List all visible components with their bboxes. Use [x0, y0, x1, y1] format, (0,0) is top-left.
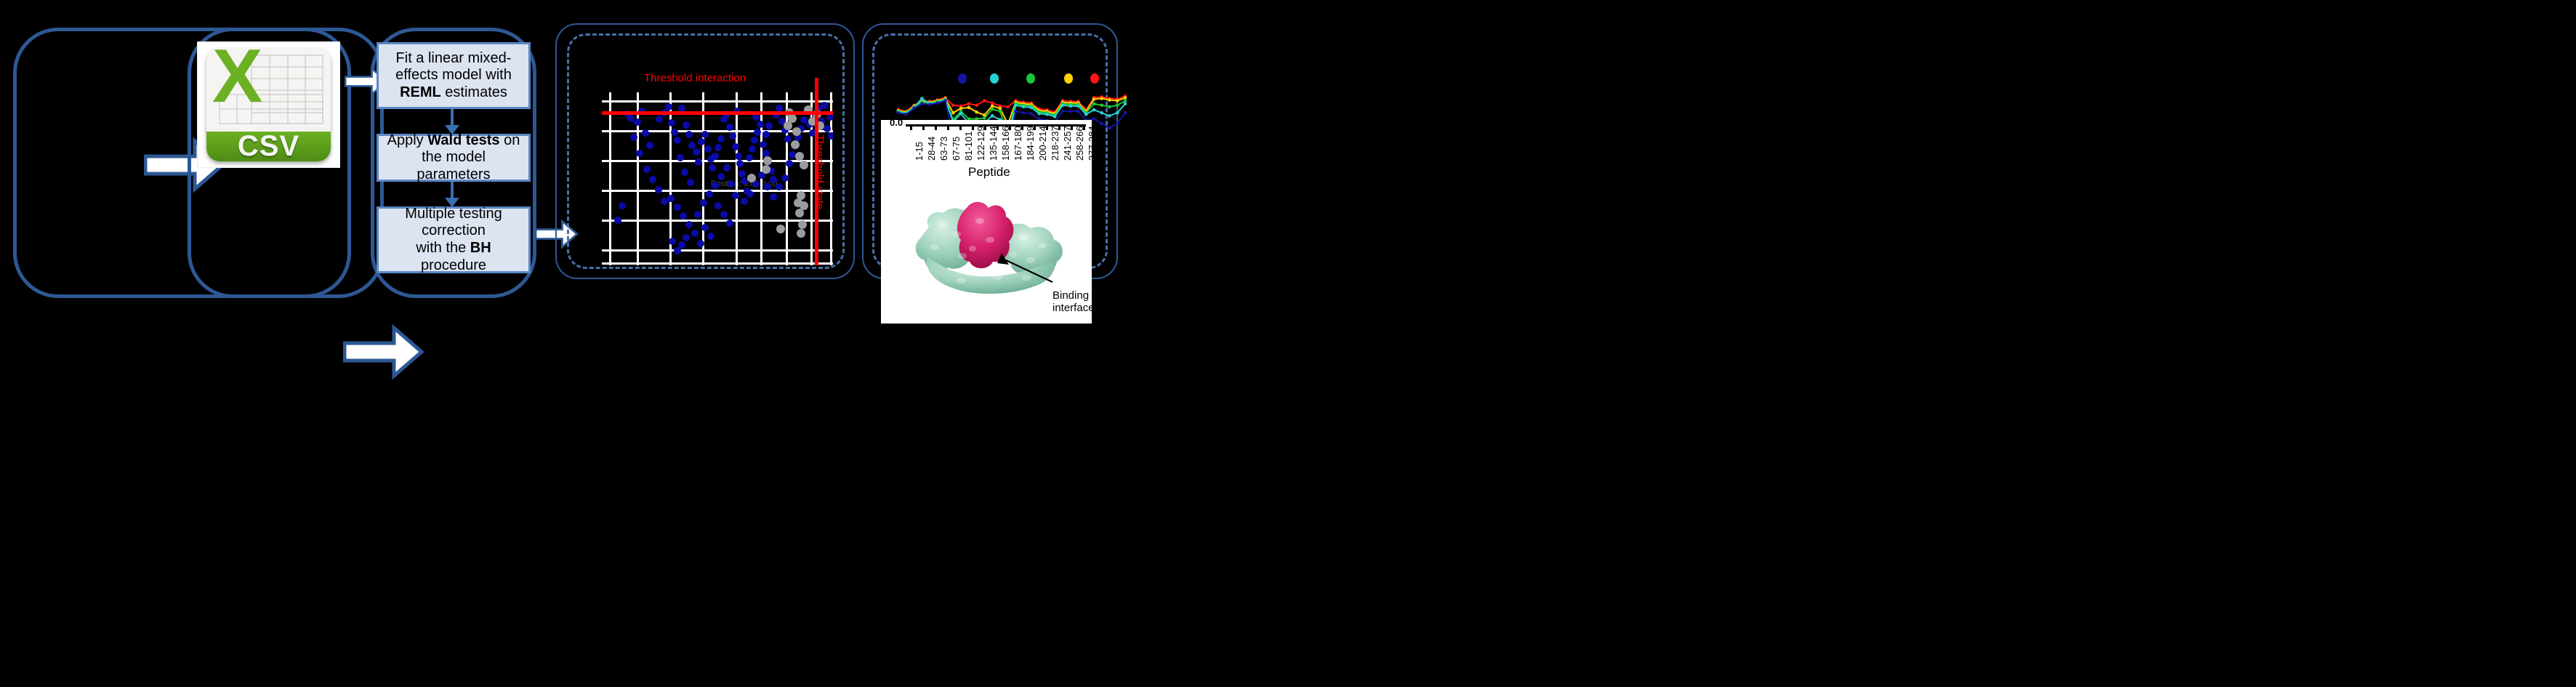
series-point: [991, 101, 994, 105]
step2-pre: Apply: [387, 132, 428, 148]
series-point: [1006, 105, 1010, 109]
arrow-stage1-to-csv: [343, 324, 424, 380]
threshold-interaction-line: [602, 111, 833, 115]
volcano-scatter-points: [602, 92, 833, 265]
series-point: [1108, 114, 1111, 118]
series-point: [1124, 99, 1127, 103]
series-point: [1124, 96, 1127, 100]
series-point: [1030, 112, 1034, 116]
annotation-line-2: interface: [1052, 302, 1092, 314]
series-point: [1022, 111, 1026, 115]
legend-dot-series-5: [1090, 73, 1099, 84]
x-axis-tick: [947, 125, 949, 130]
series-point: [1092, 108, 1096, 112]
x-axis-tick-label: 67-75: [951, 137, 962, 161]
series-point: [959, 112, 963, 116]
x-axis-tick-label: 200-214: [1037, 126, 1048, 161]
x-axis-tick: [935, 125, 937, 130]
series-point: [1076, 105, 1080, 108]
x-axis-tick: [959, 125, 962, 130]
series-point: [1084, 113, 1088, 116]
series-point: [920, 102, 924, 105]
series-point: [983, 99, 986, 103]
series-point: [951, 111, 955, 115]
x-axis-tick-label: 258-266: [1074, 126, 1085, 161]
series-point: [1092, 102, 1096, 105]
step1-reml: REML: [400, 84, 441, 100]
series-point: [991, 114, 994, 118]
series-point: [897, 111, 901, 115]
x-axis-tick-label: 122-129: [975, 126, 986, 161]
series-point: [1092, 117, 1096, 121]
csv-format-band: CSV: [206, 132, 331, 161]
x-axis-tick-label: 158-166: [1000, 126, 1011, 161]
series-point: [1100, 121, 1103, 125]
x-axis-tick-label: 218-237: [1050, 126, 1060, 161]
series-point: [1068, 105, 1072, 108]
series-point: [1076, 110, 1080, 113]
step-fit-model-box[interactable]: Fit a linear mixed- effects model with R…: [377, 42, 531, 109]
step1-line2: effects model with: [395, 67, 512, 83]
x-axis-tick-label: 277-284: [1087, 126, 1092, 161]
series-point: [1022, 105, 1026, 109]
series-point: [1116, 104, 1119, 108]
step-wald-tests-box[interactable]: Apply Wald tests on the model parameters: [377, 134, 531, 182]
series-point: [1061, 104, 1065, 108]
legend-dot-series-3: [1026, 73, 1035, 84]
series-point: [935, 101, 939, 105]
x-axis-caption: Peptide: [968, 165, 1010, 180]
series-point: [1116, 99, 1119, 103]
series-point: [1045, 113, 1049, 116]
series-point: [1068, 110, 1072, 113]
peptide-results-card: 0.0 1-1528-4463-7367-7581-101122-129135-…: [881, 120, 1092, 324]
step3-line2: correction: [422, 222, 486, 238]
series-point: [928, 103, 932, 106]
series-point: [999, 110, 1002, 113]
step3-line1: Multiple testing: [405, 206, 502, 222]
csv-file-icon: X CSV: [198, 42, 339, 167]
step3-pre: with the: [416, 240, 470, 256]
step3-post: procedure: [421, 257, 486, 273]
series-point: [975, 111, 978, 114]
step-multiple-testing-box[interactable]: Multiple testing correction with the BH …: [377, 206, 531, 273]
series-point: [1053, 115, 1057, 118]
series-point: [951, 104, 955, 108]
pipeline-figure: X CSV Fit a linear mixed- effects model …: [0, 0, 2576, 687]
series-point: [943, 99, 947, 103]
x-axis-tick-label: 1-15: [914, 142, 925, 161]
series-point: [991, 108, 994, 111]
series-point: [1124, 111, 1127, 115]
threshold-state-label: Threshold state: [813, 134, 826, 209]
x-axis-tick-label: 184-199: [1025, 126, 1036, 161]
series-point: [1014, 110, 1018, 113]
excel-x-glyph: X: [212, 48, 265, 87]
series-point: [1037, 112, 1041, 116]
series-point: [967, 102, 971, 105]
x-axis-tick: [922, 125, 925, 130]
csv-label: CSV: [238, 130, 299, 161]
volcano-plot-area: Position: 0.00 0.00: [602, 92, 833, 265]
series-point: [1030, 106, 1034, 110]
series-point: [959, 107, 963, 111]
series-point: [967, 106, 971, 110]
legend-dot-series-4: [1064, 73, 1073, 84]
series-point: [1116, 111, 1119, 115]
step1-line1: Fit a linear mixed-: [396, 50, 512, 66]
x-axis-tick-label: 28-44: [926, 137, 937, 161]
x-axis-tick-label: 63-73: [938, 137, 949, 161]
y-axis-tick-0: 0.0: [890, 120, 903, 128]
annotation-line-1: Binding: [1052, 289, 1092, 302]
x-axis-tick-label: 135-144: [988, 126, 999, 161]
series-point: [991, 105, 994, 108]
legend-dot-series-1: [958, 73, 967, 84]
series-point: [1100, 97, 1103, 100]
series-point: [920, 97, 924, 100]
spreadsheet-grid: X: [206, 48, 331, 132]
series-point: [912, 107, 916, 111]
x-axis-tick-label: 167-180: [1013, 126, 1023, 161]
series-point: [1108, 98, 1111, 102]
x-axis-tick: [910, 125, 912, 130]
step2-post: on: [500, 132, 520, 148]
threshold-interaction-label: Threshold interaction: [644, 72, 746, 84]
x-axis-tick: [972, 125, 974, 130]
series-point: [904, 113, 908, 116]
x-axis-tick-label: 241-257: [1062, 126, 1073, 161]
series-point: [1116, 121, 1119, 125]
series-point: [1092, 97, 1096, 101]
binding-interface-annotation: Binding interface: [1052, 289, 1092, 315]
step3-bh: BH: [470, 240, 491, 256]
series-point: [1100, 104, 1103, 108]
series-point: [999, 107, 1002, 111]
step1-line3-rest: estimates: [441, 84, 507, 100]
series-point: [1108, 105, 1111, 109]
volcano-plot[interactable]: Threshold interaction Position: 0.00 0.0…: [573, 40, 843, 265]
step2-line2: the model parameters: [416, 149, 490, 182]
series-point: [1124, 102, 1127, 105]
series-point: [1108, 126, 1111, 130]
series-point: [975, 104, 978, 108]
step2-wald: Wald tests: [427, 132, 499, 148]
legend-dot-series-2: [990, 73, 999, 84]
series-point: [1014, 104, 1018, 108]
x-axis-tick-label: 81-101: [963, 132, 974, 161]
series-point: [1061, 110, 1065, 113]
series-point: [1100, 111, 1103, 115]
